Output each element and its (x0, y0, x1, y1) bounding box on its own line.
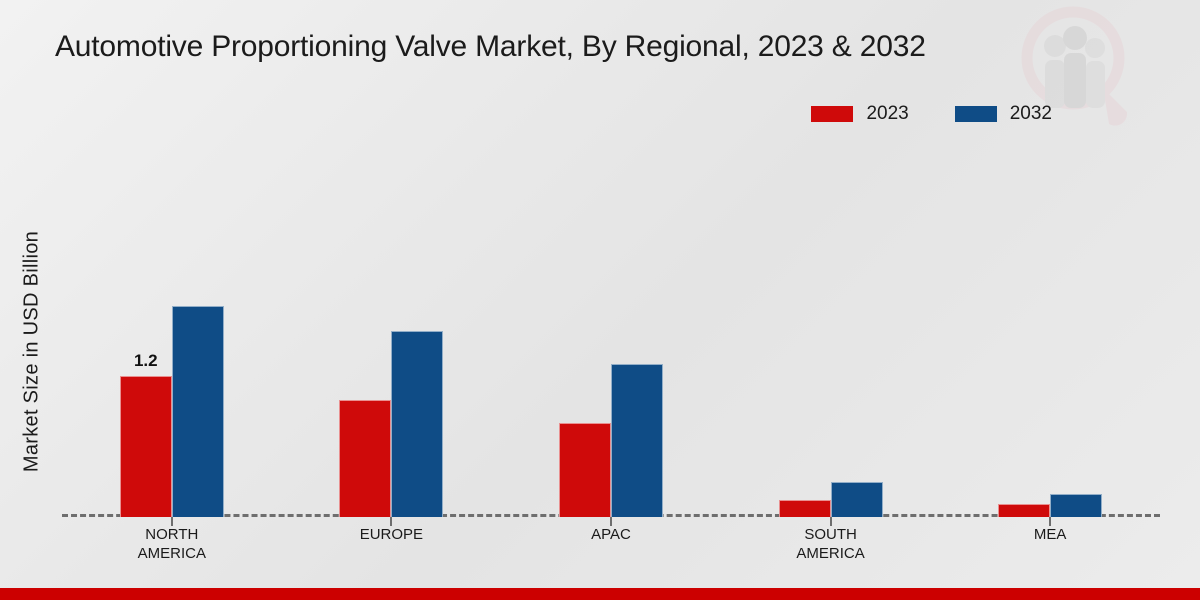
bar-groups: 1.2 NORTH AMERICA EUROPE APAC (62, 140, 1160, 517)
chart-legend: 2023 2032 (811, 103, 1052, 125)
bar-2023-europe[interactable] (339, 400, 391, 517)
legend-item-2032[interactable]: 2032 (955, 103, 1052, 125)
page-title: Automotive Proportioning Valve Market, B… (55, 30, 1115, 64)
bar-2023-south-america[interactable] (779, 500, 831, 517)
plot-area: 1.2 NORTH AMERICA EUROPE APAC (62, 140, 1160, 517)
legend-swatch-2023-icon (811, 106, 853, 122)
y-axis-title: Market Size in USD Billion (21, 172, 44, 532)
x-axis-label-apac: APAC (591, 525, 631, 544)
bar-group-apac: APAC (559, 140, 663, 517)
bar-2032-south-america[interactable] (831, 482, 883, 517)
bar-group-south-america: SOUTH AMERICA (779, 140, 883, 517)
bar-group-north-america: 1.2 NORTH AMERICA (120, 140, 224, 517)
bar-2023-apac[interactable] (559, 423, 611, 517)
legend-item-2023[interactable]: 2023 (811, 103, 908, 125)
chart-page: Automotive Proportioning Valve Market, B… (0, 0, 1200, 600)
bar-2032-apac[interactable] (611, 364, 663, 517)
bar-group-europe: EUROPE (339, 140, 443, 517)
legend-label-2032: 2032 (1010, 103, 1052, 125)
legend-label-2023: 2023 (866, 103, 908, 125)
x-axis-label-mea: MEA (1034, 525, 1067, 544)
x-axis-label-europe: EUROPE (360, 525, 423, 544)
bar-group-mea: MEA (998, 140, 1102, 517)
bar-value-2023-north-america: 1.2 (134, 351, 158, 371)
x-axis-label-north-america: NORTH AMERICA (138, 525, 206, 563)
bar-2032-europe[interactable] (391, 331, 443, 517)
footer-accent-bar (0, 588, 1200, 600)
x-axis-label-south-america: SOUTH AMERICA (796, 525, 864, 563)
bar-2023-mea[interactable] (998, 504, 1050, 517)
legend-swatch-2032-icon (955, 106, 997, 122)
bar-2023-north-america[interactable]: 1.2 (120, 376, 172, 517)
bar-2032-mea[interactable] (1050, 494, 1102, 517)
bar-2032-north-america[interactable] (172, 306, 224, 517)
